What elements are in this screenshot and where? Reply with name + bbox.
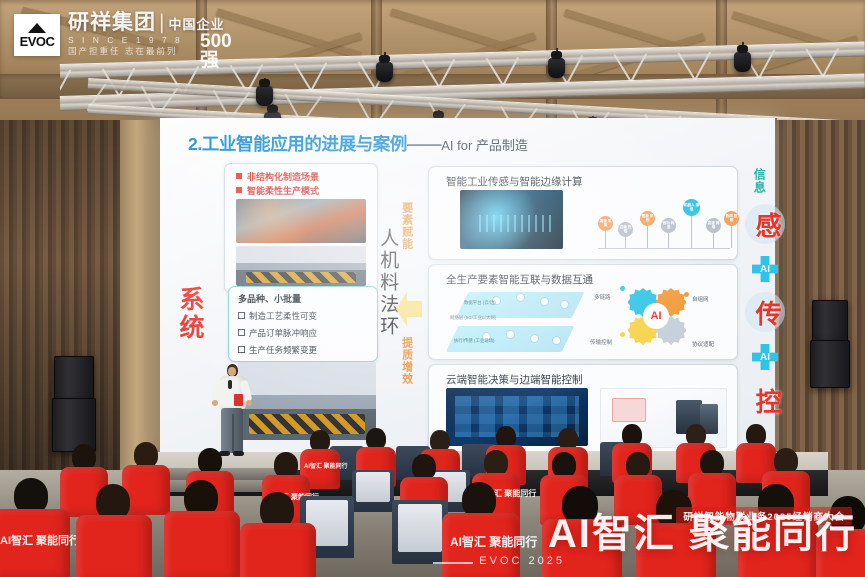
conference-photo-scene: 2.工业智能应用的进展与案例——AI for 产品制造 系统 非结构化制造场景 … — [0, 0, 865, 577]
presenter-trousers — [221, 408, 243, 453]
checkbox-square-icon — [238, 312, 245, 319]
stage-light — [256, 86, 273, 106]
edge-diagram-block — [612, 398, 646, 422]
evoc-logo-mark: EVOC — [14, 14, 60, 56]
pa-speaker-left-top — [54, 356, 94, 400]
audience-shirt — [240, 523, 316, 577]
checkbox-square-icon — [238, 346, 245, 353]
gear-label-3: 协议适配 — [692, 340, 714, 348]
network-node-6: 协同 控制 — [724, 211, 739, 226]
left-card-bullet-1-label: 智能柔性生产模式 — [247, 186, 319, 196]
mesh-label-bottom: 执行/传感 (工业现场) — [454, 338, 495, 344]
network-baseline — [598, 248, 730, 249]
audience-shirt — [542, 519, 622, 577]
evoc-wordmark: EVOC — [20, 35, 55, 48]
checkbox-square-icon — [238, 329, 245, 336]
network-node-1-label: 边缘 处理 — [618, 226, 633, 234]
network-node-3-label: 低功 耗运 — [661, 222, 676, 230]
arrow-bottom-label: 提质增效 — [400, 337, 413, 385]
network-node-4-label: 机器人 编组 — [683, 204, 700, 212]
panel-3-title: 云端智能决策与边端智能控制 — [446, 372, 583, 387]
stage-light — [734, 52, 751, 72]
left-list-item-1: 产品订单脉冲响应 — [238, 327, 317, 339]
slide-center-vertical-text: 人机料法环 — [377, 228, 398, 338]
gear-label-1: 自组网 — [692, 295, 709, 303]
photo-agv-fleet — [238, 362, 376, 440]
mesh-node — [560, 300, 569, 309]
presenter-shoe-right — [233, 451, 244, 456]
mesh-label-middle: 网络层 (5G/工业以太网) — [450, 315, 496, 321]
network-node-2: 智能 识别 — [640, 211, 655, 226]
chair-back-pad — [398, 504, 442, 552]
mesh-node — [516, 293, 525, 302]
network-node-0-label: 高速 采集 — [598, 220, 613, 228]
left-list-item-2-label: 生产任务频繁变更 — [249, 345, 317, 355]
network-node-4: 机器人 编组 — [683, 199, 700, 216]
photo-industrial-sensing — [460, 190, 563, 249]
gear-dot — [620, 286, 625, 291]
audience-shirt — [76, 515, 152, 577]
audience-shirt — [164, 511, 240, 577]
presenter-hand-right — [246, 400, 252, 406]
logo-rank-500: 500强 — [200, 32, 232, 70]
gear-label-0: 多链路 — [594, 293, 611, 301]
slide-left-vertical-text: 系统 — [176, 286, 204, 342]
network-node-3: 低功 耗运 — [661, 218, 676, 233]
slide-title: 2.工业智能应用的进展与案例——AI for 产品制造 — [188, 131, 528, 156]
audience-shirt — [688, 473, 736, 523]
pa-speaker-right-bottom — [810, 340, 850, 388]
presenter-face — [228, 367, 236, 376]
right-column-word-2: 传 — [752, 300, 781, 329]
left-list-title: 多品种、小批量 — [238, 292, 301, 305]
network-node-5-label: 高速 网络 — [706, 222, 721, 230]
network-node-6-label: 协同 控制 — [724, 215, 739, 223]
left-card-bullet-0: 非结构化制造场景 — [236, 170, 319, 183]
logo-company-cn: 研祥集团 — [68, 11, 156, 34]
handheld-microphone — [228, 380, 232, 389]
photo-unstructured-factory — [236, 199, 366, 243]
network-node-5: 高速 网络 — [706, 218, 721, 233]
left-list-item-2: 生产任务频繁变更 — [238, 344, 317, 356]
arrow-top-label: 要素赋能 — [400, 202, 413, 250]
mesh-node — [530, 334, 539, 343]
right-column-word-1: 感 — [752, 212, 781, 241]
slide-title-main: 2.工业智能应用的进展与案例 — [188, 134, 407, 154]
mesh-node — [540, 297, 549, 306]
left-card-bullet-0-label: 非结构化制造场景 — [247, 172, 319, 182]
logo-company-badge: 中国企业 — [168, 17, 224, 32]
right-column-word-3: 控 — [752, 388, 781, 417]
audience-shirt — [816, 529, 865, 577]
gear-label-2: 传输控制 — [590, 338, 612, 346]
pa-speaker-right-top — [812, 300, 848, 342]
right-column-top-label: 信息 — [752, 168, 765, 194]
starburst-icon — [28, 23, 46, 33]
left-list-item-0: 制造工艺柔性可变 — [238, 310, 317, 322]
network-node-1: 边缘 处理 — [618, 222, 633, 237]
audience-shirt — [636, 523, 716, 577]
stage-light — [548, 58, 565, 78]
panel-1-title: 智能工业传感与智能边缘计算 — [446, 174, 583, 189]
pin-stem — [691, 213, 692, 248]
gear-dot — [620, 332, 625, 337]
logo-divider: | — [159, 11, 165, 34]
left-list-item-0-label: 制造工艺柔性可变 — [249, 311, 317, 321]
network-node-0: 高速 采集 — [598, 216, 613, 231]
network-node-2-label: 智能 识别 — [640, 215, 655, 223]
photo-flexible-production — [236, 246, 366, 286]
mesh-node — [506, 330, 515, 339]
audience-shirt-text: AI智汇 聚能同行 — [450, 536, 512, 549]
bullet-square-icon — [236, 187, 242, 193]
gear-center-ai-label: AI — [643, 303, 669, 329]
audience-shirt-text: AI智汇 聚能同行 — [304, 464, 336, 470]
presenter-hand-left — [212, 400, 218, 406]
presenter-badge — [234, 394, 243, 406]
audience-shirt — [614, 475, 662, 525]
chair-back-pad — [356, 472, 390, 502]
gear-dot — [684, 292, 689, 297]
left-list-item-1-label: 产品订单脉冲响应 — [249, 328, 317, 338]
slide-title-dash: —— — [407, 134, 441, 154]
bullet-square-icon — [236, 173, 242, 179]
mesh-node — [552, 336, 561, 345]
slide-title-sub: AI for 产品制造 — [441, 138, 528, 153]
audience-shirt — [738, 517, 818, 577]
mesh-label-top: 数据平台 (云/边) — [464, 300, 496, 306]
pa-speaker-left-bottom — [52, 398, 96, 452]
panel-2-title: 全生产要素智能互联与数据互通 — [446, 272, 593, 287]
audience-shirt-text: AI智汇 聚能同行 — [0, 536, 62, 548]
left-pillar — [120, 120, 162, 472]
stage-light — [376, 62, 393, 82]
venue-logo: EVOC 研祥集团|中国企业 S I N C E 1 9 7 8 国产担重任 志… — [14, 12, 224, 57]
logo-rank-block: 500强 — [200, 32, 232, 70]
left-card-bullet-1: 智能柔性生产模式 — [236, 184, 319, 197]
